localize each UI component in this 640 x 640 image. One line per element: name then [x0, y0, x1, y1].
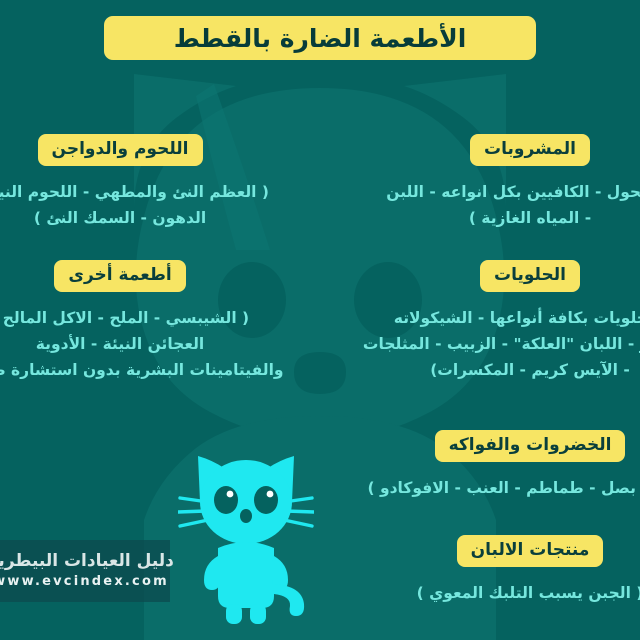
section-heading-badge: المشروبات: [470, 134, 590, 166]
section-heading-badge: اللحوم والدواجن: [38, 134, 203, 166]
section-heading-text: منتجات الالبان: [471, 539, 590, 561]
section-heading-text: الخضروات والفواكه: [449, 434, 612, 456]
section-body-line: - السكر - اللبان "العلكة" - الزبيب - الم…: [290, 331, 640, 357]
section-heading-badge: أطعمة أخرى: [54, 260, 185, 292]
section-heading-row: المشروبات: [290, 134, 640, 166]
section-drinks: المشروبات ( الكحول - الكافيين بكل انواعه…: [290, 134, 640, 231]
section-body: (الحلويات بكافة أنواعها - الشيكولاته - ا…: [290, 305, 640, 383]
section-body: ( ثوم - بصل - طماطم - العنب - الافوكادو …: [290, 475, 640, 501]
section-body-line: - الآيس كريم - المكسرات): [290, 357, 640, 383]
watermark-arabic-text: دليل العيادات البيطرية: [0, 551, 174, 572]
section-heading-text: المشروبات: [484, 138, 576, 160]
section-heading-text: الحلويات: [494, 264, 566, 286]
section-dairy-products: منتجات الالبان ( الجبن يسبب التلبك المعو…: [290, 535, 640, 606]
cat-mascot-icon: [178, 444, 314, 628]
page-title: الأطعمة الضارة بالقطط: [104, 16, 536, 60]
section-body-line: - المياه الغازية ): [290, 205, 640, 231]
section-heading-badge: الحلويات: [480, 260, 580, 292]
section-body-line: (الحلويات بكافة أنواعها - الشيكولاته: [290, 305, 640, 331]
watermark: دليل العيادات البيطرية www.evcindex.com: [0, 540, 170, 602]
infographic-poster: الأطعمة الضارة بالقطط اللحوم والدواجن ( …: [0, 0, 640, 640]
page-title-text: الأطعمة الضارة بالقطط: [174, 24, 467, 53]
section-body: ( الجبن يسبب التلبك المعوي ): [290, 580, 640, 606]
section-heading-badge: الخضروات والفواكه: [435, 430, 626, 462]
section-sweets: الحلويات (الحلويات بكافة أنواعها - الشيك…: [290, 260, 640, 383]
section-vegetables-and-fruits: الخضروات والفواكه ( ثوم - بصل - طماطم - …: [290, 430, 640, 501]
section-heading-text: أطعمة أخرى: [68, 264, 171, 286]
section-heading-badge: منتجات الالبان: [457, 535, 604, 567]
section-body: ( الكحول - الكافيين بكل انواعه - اللبن -…: [290, 179, 640, 231]
section-heading-row: الحلويات: [290, 260, 640, 292]
section-heading-row: الخضروات والفواكه: [290, 430, 640, 462]
section-body-line: ( الكحول - الكافيين بكل انواعه - اللبن: [290, 179, 640, 205]
section-body-line: ( ثوم - بصل - طماطم - العنب - الافوكادو …: [290, 475, 640, 501]
section-heading-text: اللحوم والدواجن: [52, 138, 189, 160]
section-heading-row: منتجات الالبان: [290, 535, 640, 567]
section-body-line: ( الجبن يسبب التلبك المعوي ): [290, 580, 640, 606]
watermark-url: www.evcindex.com: [0, 572, 169, 591]
